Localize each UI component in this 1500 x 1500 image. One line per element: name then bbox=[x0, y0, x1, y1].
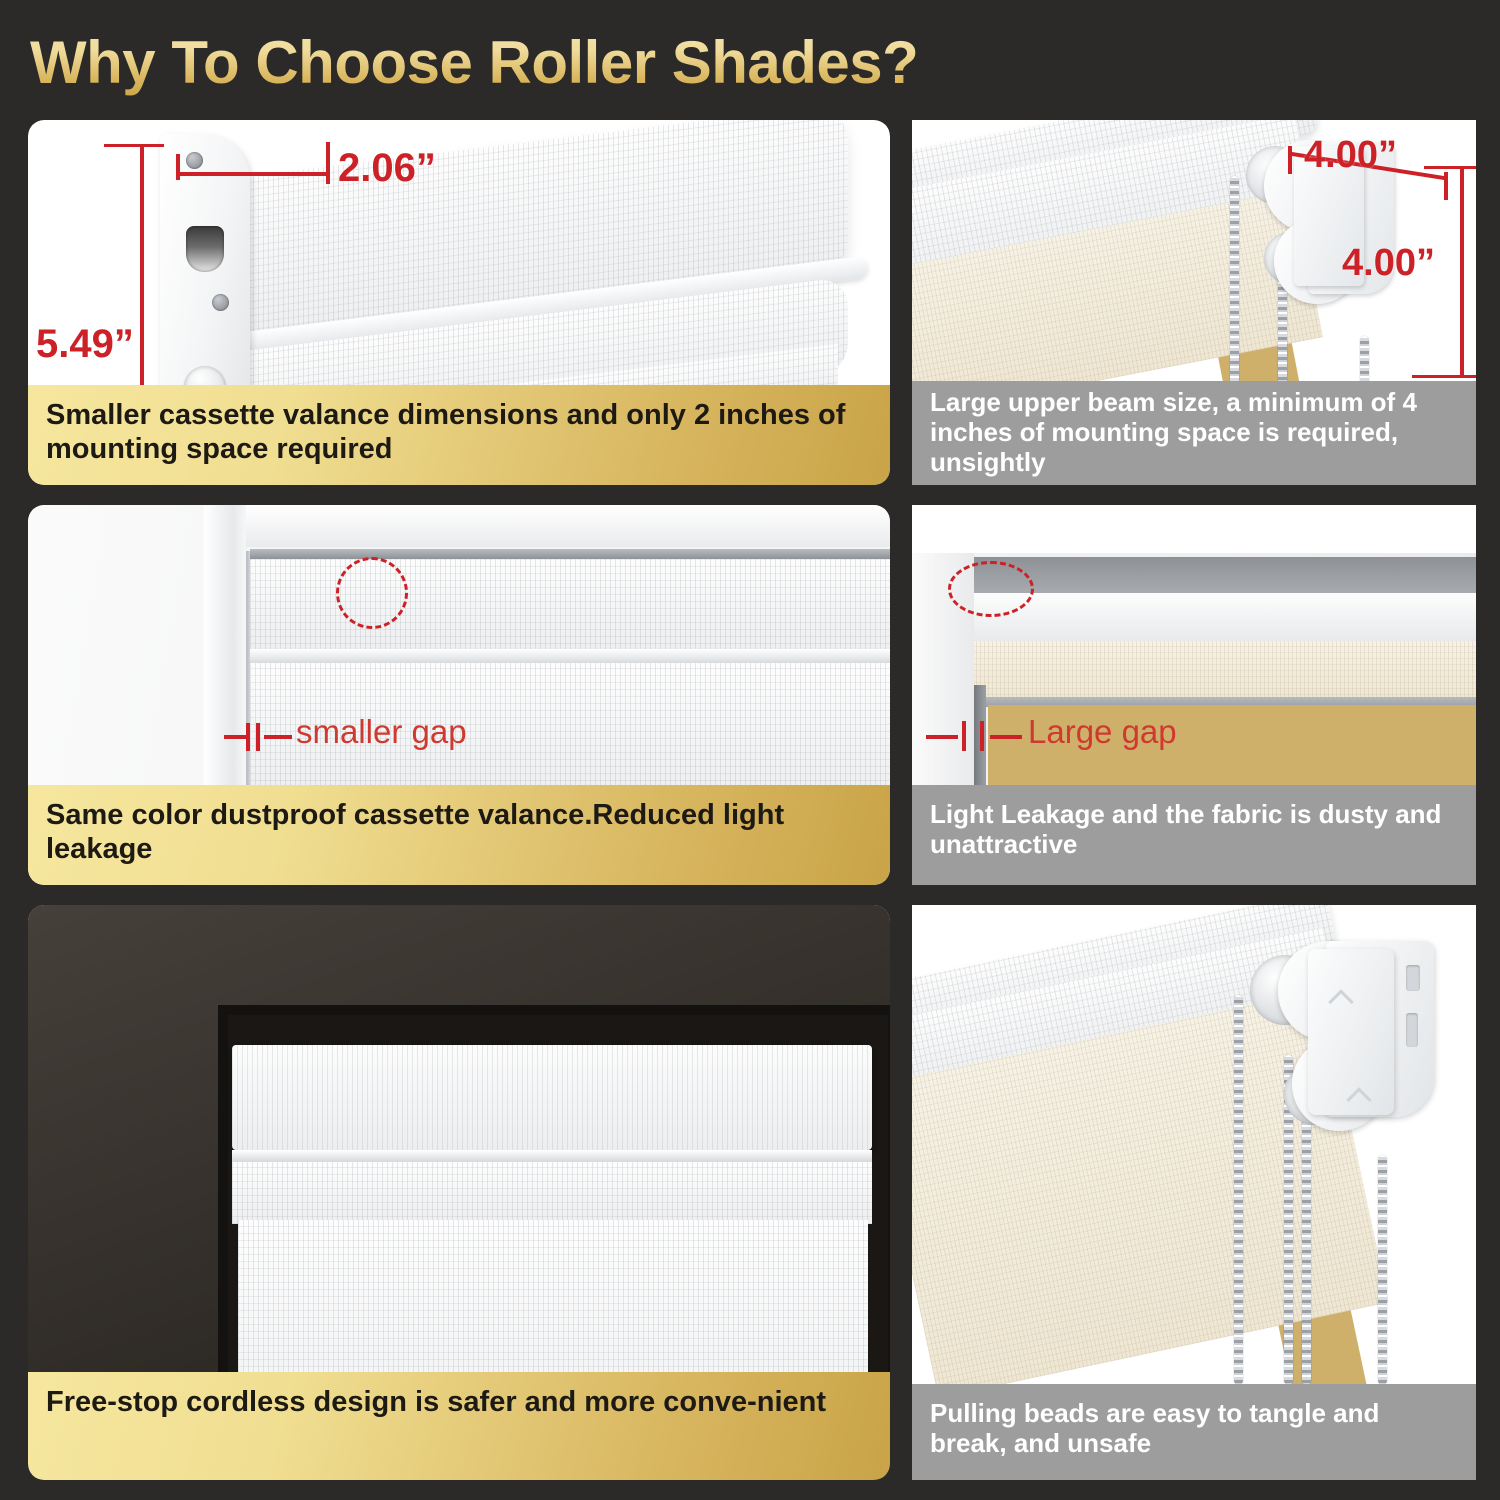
valance-rail bbox=[232, 1150, 872, 1162]
highlight-circle bbox=[948, 561, 1034, 617]
panel-3-caption: Same color dustproof cassette valance.Re… bbox=[28, 785, 890, 885]
bead-chain-right bbox=[1378, 1155, 1387, 1385]
ceiling-band bbox=[912, 505, 1476, 553]
shade-fabric-upper bbox=[232, 1162, 872, 1224]
bracket-slot-top bbox=[1406, 965, 1420, 991]
window-frame-jamb bbox=[204, 505, 246, 795]
beam-height-dim-line bbox=[1460, 166, 1464, 378]
panel-smaller-cassette: 2.06” 5.49” Smaller cassette valance dim… bbox=[28, 120, 890, 485]
comparison-grid: 2.06” 5.49” Smaller cassette valance dim… bbox=[28, 120, 1476, 1480]
mounting-bracket bbox=[1278, 941, 1458, 1171]
end-cap-screw-top bbox=[186, 152, 203, 169]
shade-mid-rail bbox=[250, 649, 890, 663]
beam-height-tick-bottom bbox=[1412, 375, 1476, 378]
gap-tick-left bbox=[962, 721, 966, 751]
recess-shadow-band bbox=[972, 557, 1476, 593]
gap-tick-right bbox=[980, 721, 984, 751]
panel-large-upper-beam: 4.00” 4.00” Large upper beam size, a min… bbox=[912, 120, 1476, 485]
height-dimension-label: 5.49” bbox=[36, 322, 134, 367]
panel-6-caption: Pulling beads are easy to tangle and bre… bbox=[912, 1384, 1476, 1480]
beam-width-tick-right bbox=[1444, 172, 1448, 200]
end-cap-slot bbox=[186, 226, 224, 272]
page-title: Why To Choose Roller Shades? bbox=[30, 20, 1470, 105]
highlight-circle bbox=[336, 557, 408, 629]
width-dim-tick-left bbox=[176, 154, 180, 180]
beam-height-label: 4.00” bbox=[1342, 242, 1435, 285]
panel-1-caption: Smaller cassette valance dimensions and … bbox=[28, 385, 890, 485]
gap-arrow-line-right bbox=[264, 735, 292, 739]
width-dim-tick-right bbox=[326, 142, 330, 184]
panel-5-caption: Free-stop cordless design is safer and m… bbox=[28, 1372, 890, 1480]
gap-arrow-line-left bbox=[926, 735, 958, 739]
panel-light-leakage: Large gap Light Leakage and the fabric i… bbox=[912, 505, 1476, 885]
page-title-bar: Why To Choose Roller Shades? bbox=[30, 20, 1470, 105]
panel-4-caption: Light Leakage and the fabric is dusty an… bbox=[912, 785, 1476, 885]
gap-tick-left bbox=[246, 723, 250, 751]
panel-pulling-beads: Pulling beads are easy to tangle and bre… bbox=[912, 905, 1476, 1480]
cassette-valance bbox=[232, 1045, 872, 1150]
large-gap-label: Large gap bbox=[1028, 713, 1177, 751]
infographic-page: Why To Choose Roller Shades? 2 bbox=[0, 0, 1500, 1500]
gap-arrow-line-right bbox=[990, 735, 1022, 739]
beam-width-tick-left bbox=[1288, 146, 1292, 174]
panel-cordless-design: Free-stop cordless design is safer and m… bbox=[28, 905, 890, 1480]
width-dimension-line bbox=[176, 172, 328, 176]
beam-height-tick-top bbox=[1424, 166, 1476, 169]
bracket-plate-inner bbox=[1308, 949, 1394, 1115]
bead-chain-left bbox=[1230, 176, 1239, 406]
height-dim-tick-top bbox=[104, 144, 164, 147]
width-dimension-label: 2.06” bbox=[338, 146, 436, 191]
upper-beam bbox=[972, 593, 1476, 645]
end-cap-screw bbox=[212, 294, 229, 311]
panel-dustproof-cassette: smaller gap Same color dustproof cassett… bbox=[28, 505, 890, 885]
gap-tick-right bbox=[256, 723, 260, 751]
bead-chain-left bbox=[1234, 995, 1243, 1385]
beam-width-label: 4.00” bbox=[1304, 134, 1397, 177]
panel-2-caption: Large upper beam size, a minimum of 4 in… bbox=[912, 381, 1476, 485]
shade-fabric-cream bbox=[972, 641, 1476, 701]
smaller-gap-label: smaller gap bbox=[296, 713, 467, 751]
window-frame-head bbox=[204, 505, 890, 547]
bracket-slot-bottom bbox=[1406, 1013, 1418, 1047]
shade-head-rail bbox=[250, 549, 890, 559]
